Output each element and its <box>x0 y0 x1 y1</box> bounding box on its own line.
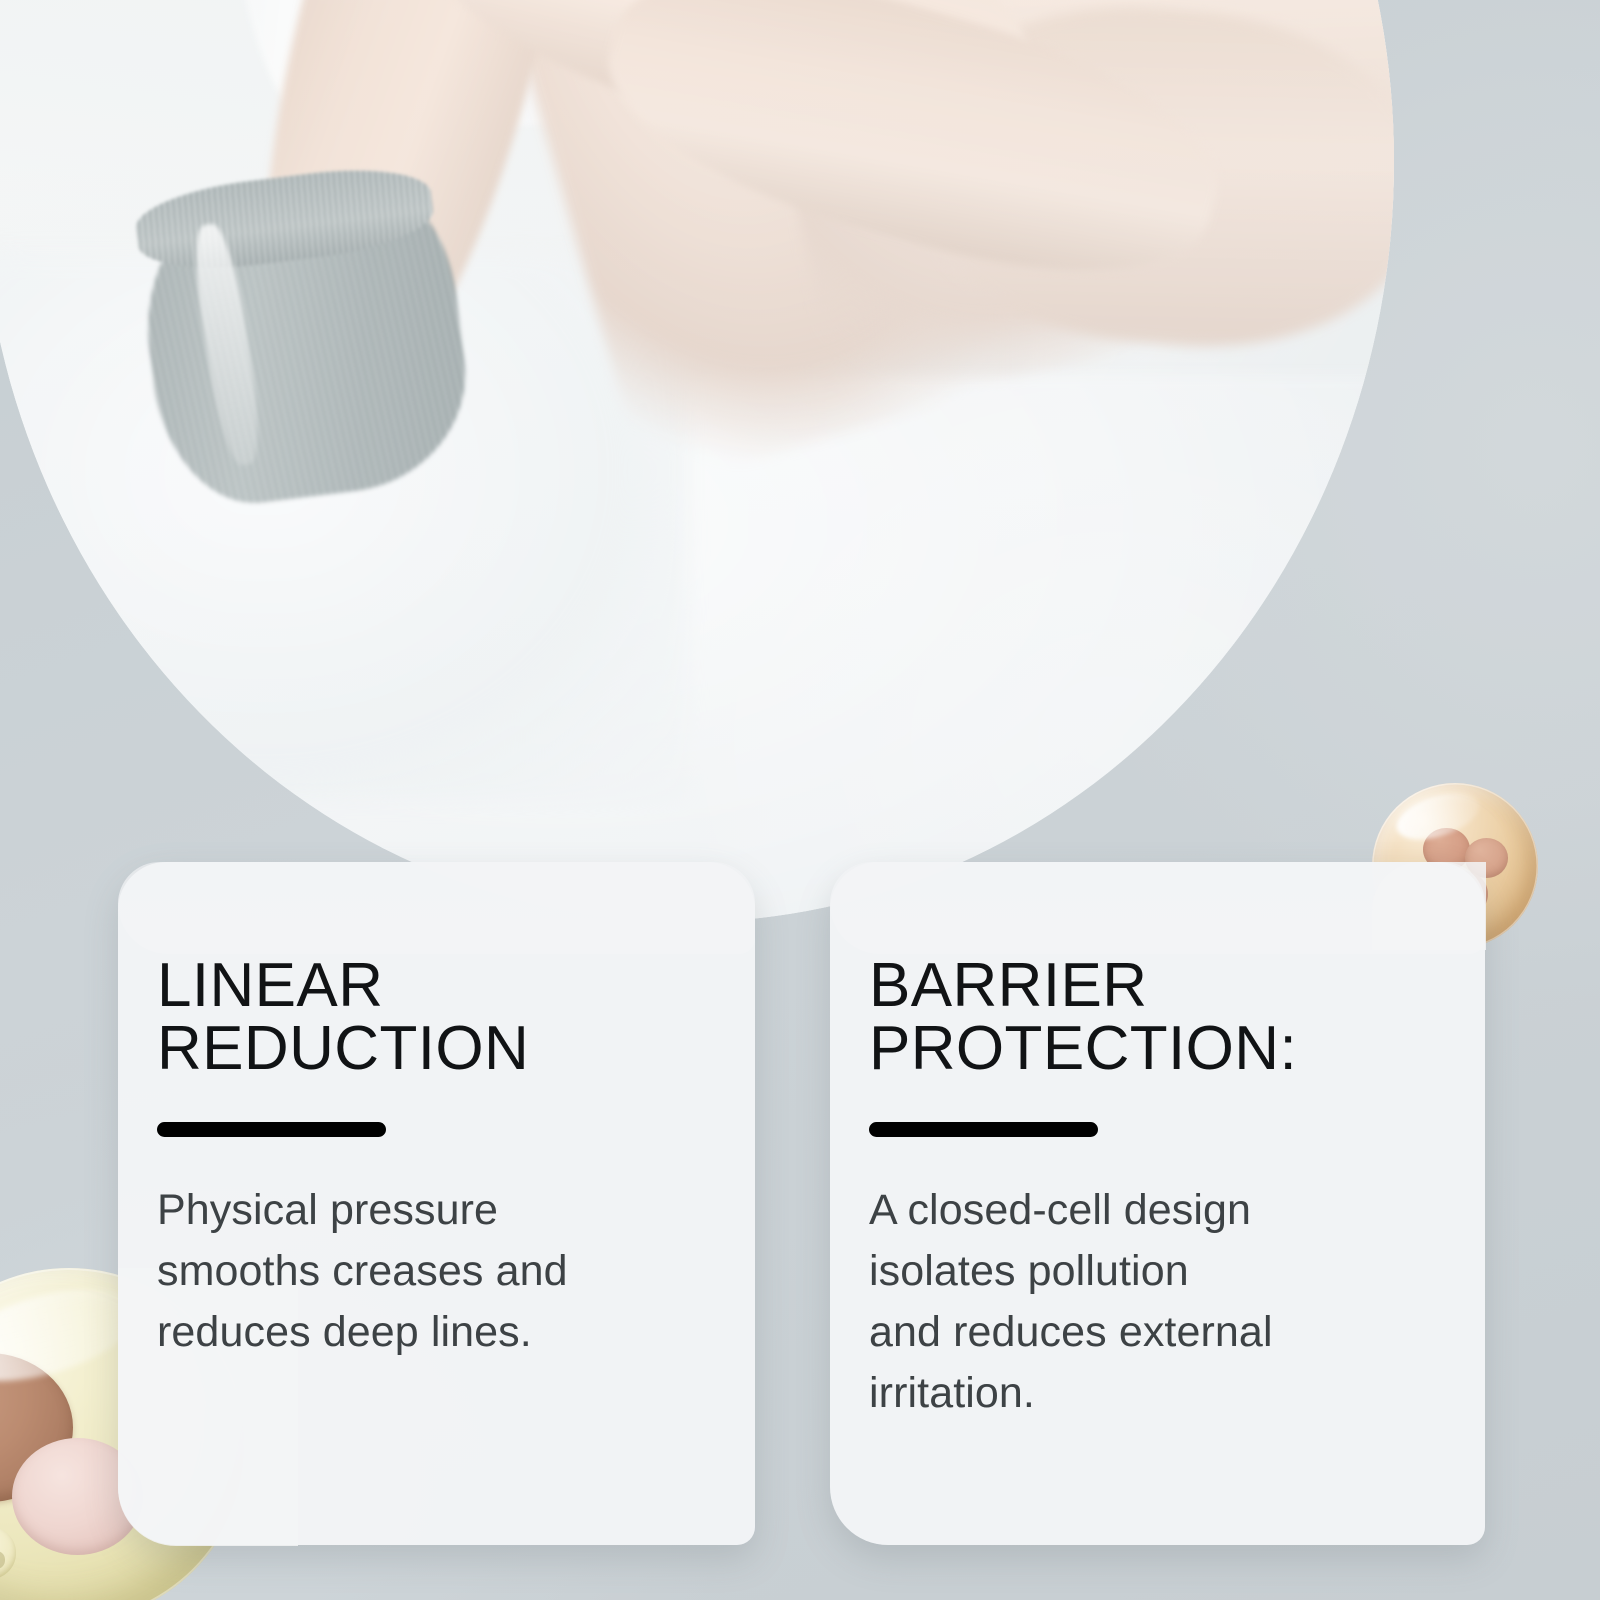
card-content: BARRIER PROTECTION: A closed-cell design… <box>830 862 1485 1424</box>
card-description: Physical pressure smooths creases and re… <box>157 1180 709 1363</box>
hero-photo-scene <box>0 0 1394 922</box>
feature-card-linear-reduction[interactable]: LINEAR REDUCTION Physical pressure smoot… <box>118 862 755 1545</box>
card-divider-rule <box>869 1122 1098 1137</box>
card-title: LINEAR REDUCTION <box>157 954 709 1080</box>
card-divider-rule <box>157 1122 386 1137</box>
poster-canvas: LINEAR REDUCTION Physical pressure smoot… <box>0 0 1600 1600</box>
photo-cool-tint <box>0 0 1394 922</box>
hero-photo <box>0 0 1394 922</box>
card-title: BARRIER PROTECTION: <box>869 954 1439 1080</box>
card-description: A closed-cell design isolates pollution … <box>869 1180 1439 1424</box>
feature-card-barrier-protection[interactable]: BARRIER PROTECTION: A closed-cell design… <box>830 862 1485 1545</box>
card-content: LINEAR REDUCTION Physical pressure smoot… <box>118 862 755 1363</box>
